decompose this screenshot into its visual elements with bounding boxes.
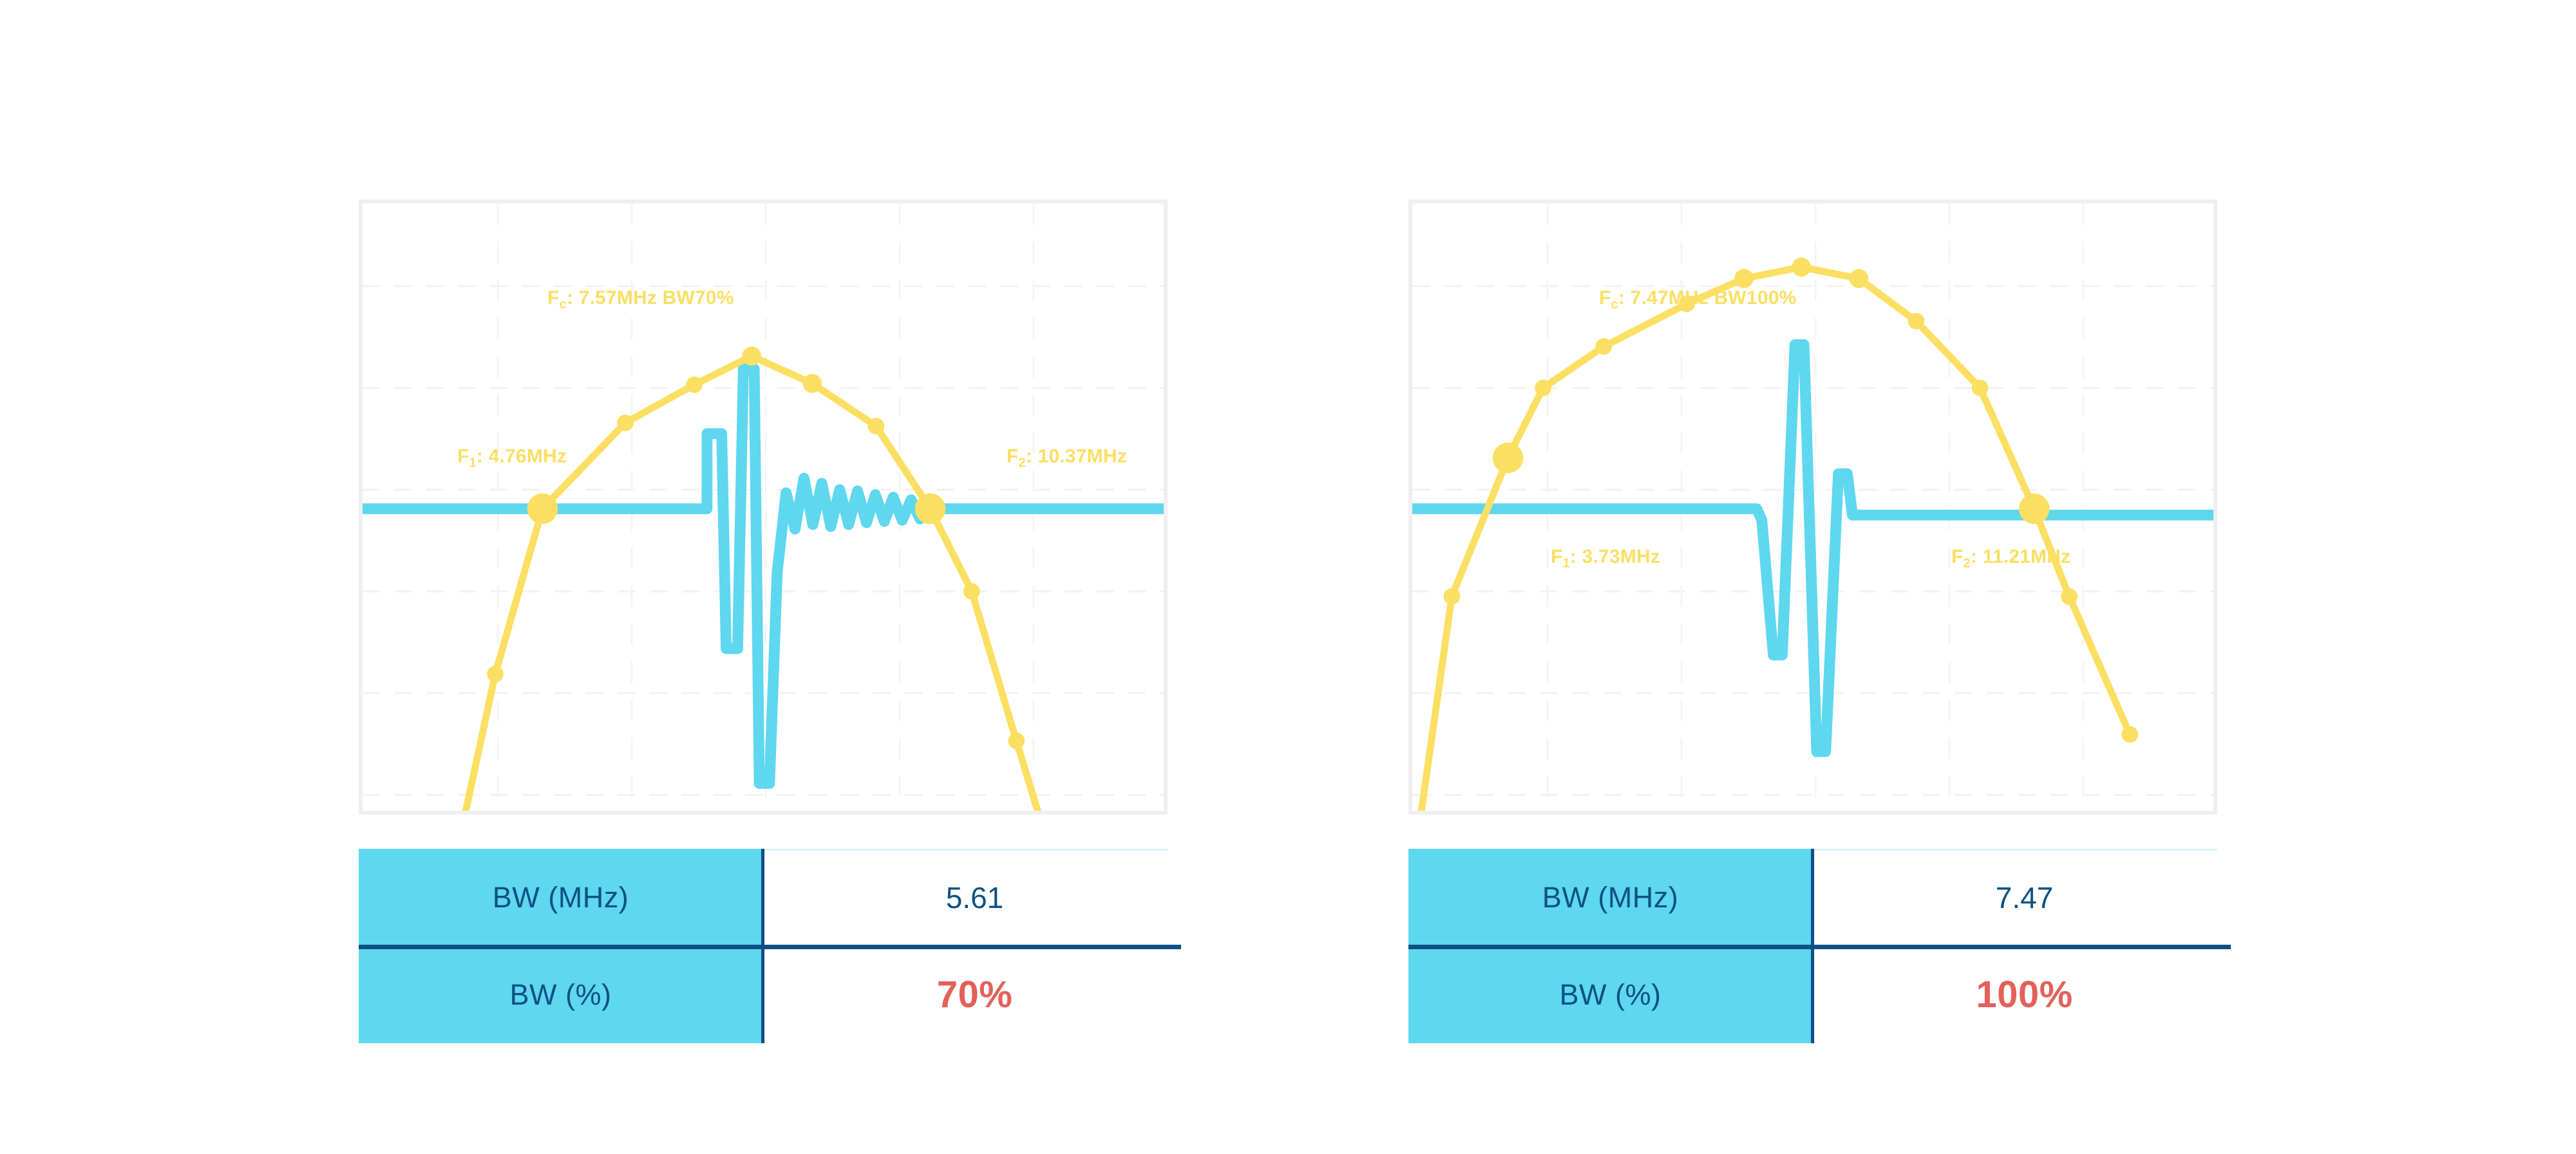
table-top-rule	[1812, 849, 2218, 851]
chart-left	[359, 200, 1168, 815]
table-value-text: 70%	[937, 973, 1013, 1016]
f1-text: : 4.76MHz	[477, 446, 567, 467]
annotation-upper-cutoff: F2: 10.37MHz	[1007, 447, 1127, 466]
annotation-center-frequency: Fc: 7.57MHz BW70%	[547, 288, 734, 308]
table-middle-rule	[1408, 945, 2231, 949]
table-value-cell: 7.47	[1812, 849, 2237, 946]
annotation-upper-cutoff: F2: 11.21MHz	[1951, 547, 2070, 567]
table-header-label: BW (MHz)	[493, 881, 629, 914]
table-header-cell: BW (MHz)	[359, 849, 762, 946]
f2-text: : 11.21MHz	[1971, 546, 2070, 567]
spectrum-curve-right	[1417, 267, 2130, 811]
table-value-text: 100%	[1976, 973, 2072, 1016]
fc-prefix: F	[1599, 287, 1611, 308]
table-row: BW (%) 70%	[359, 946, 1187, 1043]
f2-prefix: F	[1007, 446, 1019, 467]
f2-prefix: F	[1951, 546, 1964, 567]
f1-text: : 3.73MHz	[1570, 546, 1660, 567]
annotation-center-frequency: Fc: 7.47MHz BW100%	[1599, 288, 1796, 308]
table-row: BW (MHz) 7.47	[1408, 849, 2237, 946]
table-value-text: 7.47	[1996, 880, 2054, 915]
table-value-cell: 5.61	[762, 849, 1187, 946]
f1-subscript: 1	[1563, 556, 1570, 571]
fc-text: : 7.47MHz BW100%	[1618, 287, 1797, 308]
table-top-rule	[762, 849, 1168, 851]
table-header-label: BW (%)	[510, 978, 612, 1012]
annotation-lower-cutoff: F1: 4.76MHz	[457, 447, 567, 466]
chart-left-svg	[363, 203, 1164, 811]
table-header-cell: BW (MHz)	[1408, 849, 1812, 946]
table-header-label: BW (%)	[1560, 978, 1662, 1012]
table-middle-rule	[359, 945, 1181, 949]
chart-right	[1408, 200, 2217, 815]
chart-right-svg	[1412, 203, 2213, 811]
table-header-cell: BW (%)	[359, 946, 762, 1043]
panel-left: Fc: 7.57MHz BW70% F1: 4.76MHz F2: 10.37M…	[335, 0, 1191, 1154]
figure-stage: Fc: 7.57MHz BW70% F1: 4.76MHz F2: 10.37M…	[0, 0, 2576, 1154]
f2-text: : 10.37MHz	[1026, 446, 1127, 467]
table-row: BW (%) 100%	[1408, 946, 2237, 1043]
annotation-lower-cutoff: F1: 3.73MHz	[1551, 547, 1660, 567]
f1-prefix: F	[457, 446, 469, 467]
table-header-cell: BW (%)	[1408, 946, 1812, 1043]
panel-right: Fc: 7.47MHz BW100% F1: 3.73MHz F2: 11.21…	[1385, 0, 2241, 1154]
f2-subscript: 2	[1019, 456, 1026, 470]
fc-subscript: c	[560, 298, 567, 312]
f2-subscript: 2	[1964, 556, 1971, 571]
bandwidth-table-right: BW (MHz) 7.47 BW (%) 100%	[1408, 849, 2237, 1043]
table-row: BW (MHz) 5.61	[359, 849, 1187, 946]
table-header-label: BW (MHz)	[1542, 881, 1678, 914]
fc-subscript: c	[1611, 298, 1618, 312]
f1-subscript: 1	[469, 456, 477, 470]
fc-prefix: F	[547, 287, 560, 308]
bandwidth-table-left: BW (MHz) 5.61 BW (%) 70%	[359, 849, 1187, 1043]
table-value-text: 5.61	[946, 880, 1004, 915]
fc-text: : 7.57MHz BW70%	[567, 287, 734, 308]
table-value-cell: 70%	[762, 946, 1187, 1043]
f1-prefix: F	[1551, 546, 1563, 567]
table-value-cell: 100%	[1812, 946, 2237, 1043]
